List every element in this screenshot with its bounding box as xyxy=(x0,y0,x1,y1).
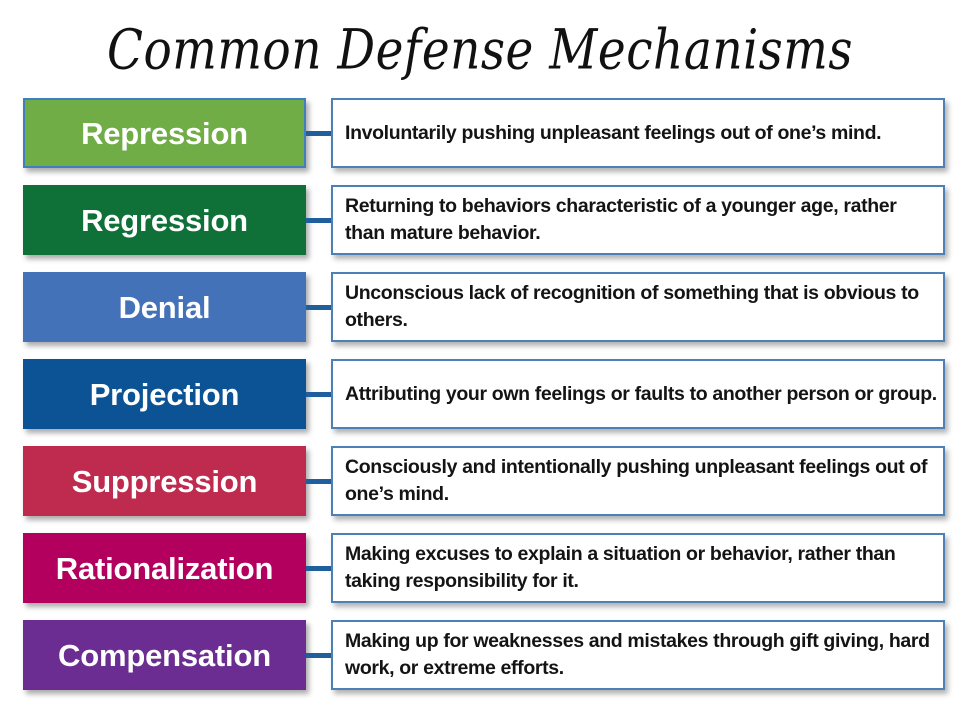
mechanism-description-text: Making excuses to explain a situation or… xyxy=(345,541,939,595)
mechanism-description-box-regression[interactable]: Returning to behaviors characteristic of… xyxy=(331,185,945,255)
mechanism-row: Regression Returning to behaviors charac… xyxy=(0,185,960,263)
mechanism-description-box-suppression[interactable]: Consciously and intentionally pushing un… xyxy=(331,446,945,516)
mechanism-description-text: Consciously and intentionally pushing un… xyxy=(345,454,939,508)
mechanism-row: Rationalization Making excuses to explai… xyxy=(0,533,960,611)
mechanism-description-box-denial[interactable]: Unconscious lack of recognition of somet… xyxy=(331,272,945,342)
page-title: Common Defense Mechanisms xyxy=(0,18,960,83)
mechanism-label-text: Rationalization xyxy=(56,553,273,584)
mechanism-row: Repression Involuntarily pushing unpleas… xyxy=(0,98,960,176)
mechanism-label-text: Denial xyxy=(119,292,211,323)
mechanism-row: Compensation Making up for weaknesses an… xyxy=(0,620,960,698)
connector-line xyxy=(306,218,332,223)
mechanism-description-box-projection[interactable]: Attributing your own feelings or faults … xyxy=(331,359,945,429)
mechanism-label-box-rationalization[interactable]: Rationalization xyxy=(23,533,306,603)
mechanism-label-text: Repression xyxy=(81,118,248,149)
mechanism-description-text: Unconscious lack of recognition of somet… xyxy=(345,280,939,334)
mechanism-label-box-suppression[interactable]: Suppression xyxy=(23,446,306,516)
mechanism-label-text: Compensation xyxy=(58,640,271,671)
mechanism-label-text: Projection xyxy=(90,379,240,410)
mechanism-label-box-projection[interactable]: Projection xyxy=(23,359,306,429)
mechanism-label-box-repression[interactable]: Repression xyxy=(23,98,306,168)
mechanism-description-box-compensation[interactable]: Making up for weaknesses and mistakes th… xyxy=(331,620,945,690)
mechanism-description-text: Involuntarily pushing unpleasant feeling… xyxy=(345,120,881,147)
connector-line xyxy=(306,392,332,397)
connector-line xyxy=(306,653,332,658)
mechanism-row: Suppression Consciously and intentionall… xyxy=(0,446,960,524)
connector-line xyxy=(306,479,332,484)
connector-line xyxy=(306,305,332,310)
mechanism-row: Projection Attributing your own feelings… xyxy=(0,359,960,437)
mechanism-label-box-regression[interactable]: Regression xyxy=(23,185,306,255)
slide-canvas: Common Defense Mechanisms Repression Inv… xyxy=(0,0,960,720)
mechanism-description-text: Returning to behaviors characteristic of… xyxy=(345,193,939,247)
mechanism-description-text: Attributing your own feelings or faults … xyxy=(345,381,937,408)
mechanism-description-box-rationalization[interactable]: Making excuses to explain a situation or… xyxy=(331,533,945,603)
mechanism-description-text: Making up for weaknesses and mistakes th… xyxy=(345,628,939,682)
mechanism-description-box-repression[interactable]: Involuntarily pushing unpleasant feeling… xyxy=(331,98,945,168)
mechanism-label-text: Regression xyxy=(81,205,248,236)
mechanism-label-box-compensation[interactable]: Compensation xyxy=(23,620,306,690)
mechanism-label-text: Suppression xyxy=(72,466,258,497)
mechanism-row: Denial Unconscious lack of recognition o… xyxy=(0,272,960,350)
mechanism-label-box-denial[interactable]: Denial xyxy=(23,272,306,342)
connector-line xyxy=(306,566,332,571)
connector-line xyxy=(306,131,332,136)
